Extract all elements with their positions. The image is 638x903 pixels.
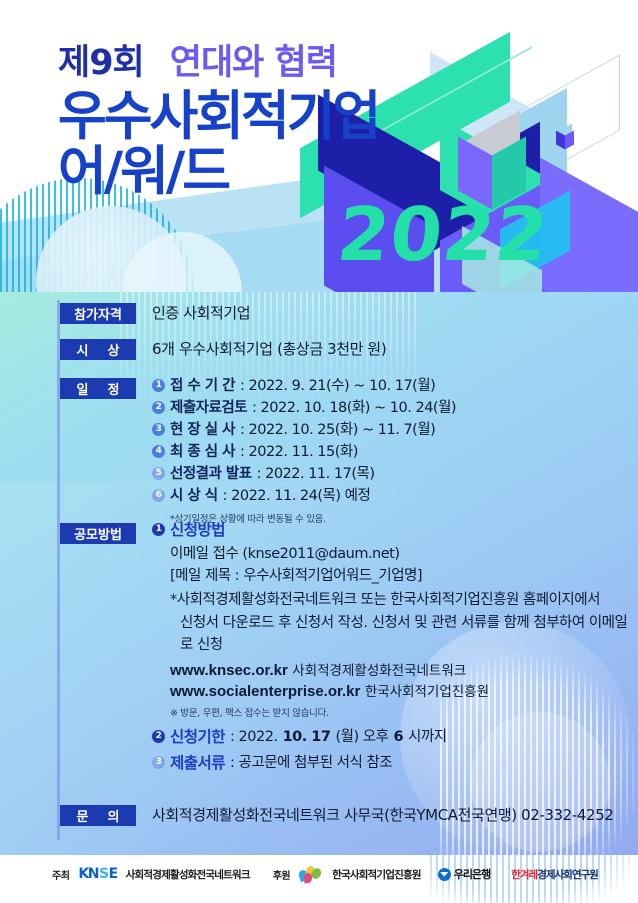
schedule-item-value: : 2022. 10. 18(화) ~ 10. 24(월): [252, 397, 456, 419]
schedule-item-label: 시 상 식: [170, 485, 218, 507]
schedule-item: 1 접 수 기 간 : 2022. 9. 21(수) ~ 10. 17(월): [152, 375, 456, 397]
apply-url-2-desc: 한국사회적기업진흥원: [365, 684, 489, 699]
prize-text: 6개 우수사회적기업 (총상금 3천만 원): [152, 339, 386, 359]
apply-email-line: 이메일 접수 (knse2011@daum.net): [170, 543, 638, 565]
apply-item-2-number: 2: [152, 730, 165, 743]
poster-root: 2022 제9회 연대와 협력 우수사회적기업 어/워/드 참가자격 인증 사회…: [0, 0, 638, 903]
apply-url-1-desc: 사회적경제활성화전국네트워크: [292, 663, 466, 678]
knse-logo: KNSE: [78, 866, 116, 882]
schedule-item-value: : 2022. 11. 15(화): [240, 441, 358, 463]
badge-schedule-char-1: 일: [77, 379, 89, 398]
eligibility-text: 인증 사회적기업: [152, 303, 250, 323]
apply-deadline-pre: : 2022.: [230, 726, 278, 748]
badge-contact: 문 의: [60, 805, 136, 826]
footer-sponsor-label: 후원: [273, 867, 290, 882]
schedule-item-value: : 2022. 10. 25(화) ~ 11. 7(월): [240, 419, 435, 441]
apply-item-2-label: 신청기한: [170, 726, 225, 750]
footer-sponsor-2: 우리은행: [454, 866, 490, 882]
apply-item-1-heading: 신청방법: [170, 519, 225, 543]
apply-item-3: 3 제출서류 : 공고문에 첨부된 서식 참조: [152, 752, 638, 776]
apply-footnote: ※ 방문, 우편, 팩스 접수는 받지 않습니다.: [170, 705, 638, 719]
schedule-item-label: 최 종 심 사: [170, 441, 235, 463]
apply-item-3-number: 3: [152, 756, 165, 769]
badge-schedule: 일 정: [60, 378, 136, 399]
schedule-item-label: 제출자료검토: [170, 397, 247, 419]
row-contact: 문 의 사회적경제활성화전국네트워크 사무국(한국YMCA전국연맹) 02-33…: [60, 805, 613, 826]
hani-logo-blue: 경제사회연구원: [537, 869, 598, 881]
apply-item-1-number: 1: [152, 523, 165, 536]
hani-logo-red: 한겨레: [511, 869, 537, 881]
title-ordinal: 제9회: [58, 34, 144, 85]
apply-url-row-2: www.socialenterprise.or.kr 한국사회적기업진흥원: [170, 680, 638, 701]
schedule-item: 4 최 종 심 사 : 2022. 11. 15(화): [152, 441, 456, 463]
row-eligibility: 참가자격 인증 사회적기업: [60, 303, 250, 324]
knse-logo-s: S: [99, 866, 108, 882]
apply-item-2: 2 신청기한 : 2022. 10. 17 (월) 오후 6 시까지: [152, 726, 638, 750]
badge-prize-char-2: 상: [108, 340, 120, 359]
woori-bank-logo: 우리은행: [438, 866, 490, 882]
knse-logo-e: E: [109, 866, 117, 882]
schedule-item-number: 1: [152, 379, 165, 392]
schedule-item-value: : 2022. 9. 21(수) ~ 10. 17(월): [240, 375, 435, 397]
info-panel: 참가자격 인증 사회적기업 시 상 6개 우수사회적기업 (총상금 3천만 원)…: [0, 292, 638, 855]
badge-prize-char-1: 시: [77, 340, 89, 359]
year-2022: 2022: [334, 198, 552, 272]
schedule-item-label: 현 장 실 사: [170, 419, 235, 441]
badge-prize: 시 상: [60, 339, 136, 360]
badge-contact-char-1: 문: [77, 806, 89, 825]
schedule-item-number: 4: [152, 445, 165, 458]
badge-schedule-char-2: 정: [108, 379, 120, 398]
schedule-item: 3 현 장 실 사 : 2022. 10. 25(화) ~ 11. 7(월): [152, 419, 456, 441]
poster-title-block: 제9회 연대와 협력 우수사회적기업 어/워/드: [58, 34, 378, 199]
schedule-item: 5 선정결과 발표 : 2022. 11. 17(목): [152, 463, 456, 485]
schedule-item: 6 시 상 식 : 2022. 11. 24(목) 예정: [152, 485, 456, 507]
title-main-line2: 어/워/드: [58, 144, 378, 199]
hani-logo: 한겨레경제사회연구원: [511, 867, 598, 882]
kosea-logo-icon: [299, 866, 323, 883]
apply-url-row-1: www.knsec.or.kr 사회적경제활성화전국네트워크: [170, 659, 638, 680]
schedule-item-value: : 2022. 11. 24(목) 예정: [223, 485, 371, 507]
schedule-item-label: 선정결과 발표: [170, 463, 252, 485]
footer-host-org: 사회적경제활성화전국네트워크: [126, 867, 250, 882]
schedule-item-value: : 2022. 11. 17(목): [257, 463, 375, 485]
apply-deadline-mid: (월) 오후: [335, 726, 388, 748]
apply-item-3-value: : 공고문에 첨부된 서식 참조: [230, 752, 392, 774]
apply-deadline-post: 시까지: [408, 726, 447, 748]
badge-contact-char-2: 의: [108, 806, 120, 825]
apply-deadline-hour: 6: [393, 726, 403, 748]
schedule-item-label: 접 수 기 간: [170, 375, 235, 397]
hero-artwork: 2022 제9회 연대와 협력 우수사회적기업 어/워/드: [0, 0, 638, 292]
schedule-item: 2 제출자료검토 : 2022. 10. 18(화) ~ 10. 24(월): [152, 397, 456, 419]
badge-eligibility: 참가자격: [60, 303, 136, 324]
badge-apply: 공모방법: [60, 523, 136, 544]
schedule-item-number: 5: [152, 467, 165, 480]
apply-note-line-1: *사회적경제활성화전국네트워크 또는 한국사회적기업진흥원 홈페이지에서: [170, 589, 638, 611]
apply-item-3-label: 제출서류: [170, 752, 225, 776]
knse-logo-k: KN: [78, 866, 98, 882]
contact-text: 사회적경제활성화전국네트워크 사무국(한국YMCA전국연맹) 02-332-42…: [152, 805, 613, 825]
title-slogan: 연대와 협력: [170, 34, 337, 85]
schedule-item-number: 6: [152, 489, 165, 502]
footer-bar: 주최 KNSE 사회적경제활성화전국네트워크 후원 한국사회적기업진흥원 우리은…: [0, 855, 638, 903]
apply-note-line-2: 신청서 다운로드 후 신청서 작성. 신청서 및 관련 서류를 함께 첨부하여 …: [180, 612, 638, 657]
title-main-line1: 우수사회적기업: [58, 89, 378, 144]
footer-sponsor-1: 한국사회적기업진흥원: [332, 867, 421, 882]
schedule-item-number: 3: [152, 423, 165, 436]
row-prize: 시 상 6개 우수사회적기업 (총상금 3천만 원): [60, 339, 386, 360]
row-schedule: 일 정 1 접 수 기 간 : 2022. 9. 21(수) ~ 10. 17(…: [60, 378, 456, 525]
apply-deadline-date: 10. 17: [283, 726, 331, 748]
apply-subject-line: [메일 제목 : 우수사회적기업어워드_기업명]: [170, 565, 638, 587]
apply-url-2: www.socialenterprise.or.kr: [170, 683, 360, 700]
woori-mark-icon: [438, 868, 451, 881]
row-apply: 공모방법 1 신청방법 이메일 접수 (knse2011@daum.net) […: [60, 523, 638, 776]
schedule-item-number: 2: [152, 401, 165, 414]
apply-item-1: 1 신청방법: [152, 519, 638, 543]
apply-url-1: www.knsec.or.kr: [170, 662, 288, 679]
footer-host-label: 주최: [52, 867, 69, 882]
